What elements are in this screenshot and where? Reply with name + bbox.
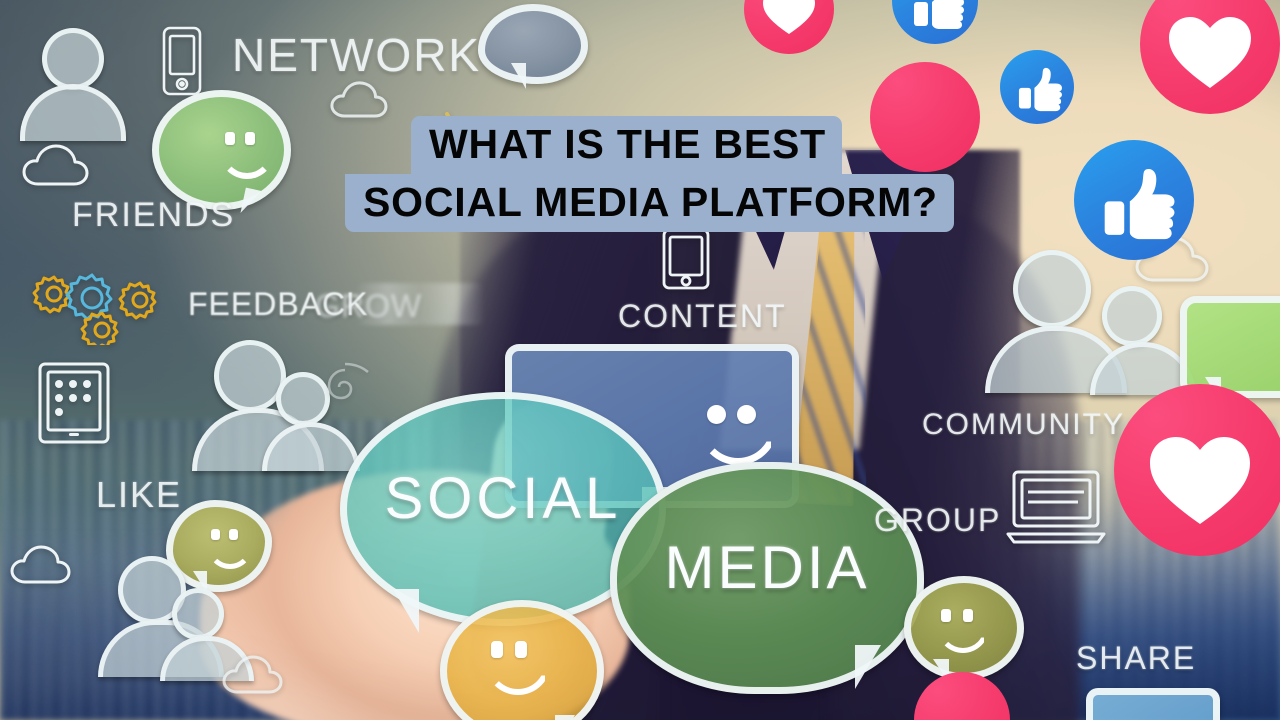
blue-square-bubble-bottom [1086,688,1220,720]
cloud-icon-top [330,76,404,120]
mobile-phone-icon [162,26,202,96]
chalk-word-friends: FRIENDS [72,196,235,235]
thumbs-up-reaction-icon-2 [1000,50,1074,124]
chalk-word-network: NETWORK [232,28,481,82]
media-bubble: MEDIA [610,462,924,694]
thumbs-up-reaction-icon-1 [892,0,978,44]
chalk-word-group: GROUP [874,502,1001,539]
heart-reaction-icon-1 [744,0,834,54]
green-square-bubble [1180,296,1280,398]
heart-reaction-icon-5 [914,672,1010,720]
media-bubble-label: MEDIA [617,533,917,602]
spiral-doodle-icon [312,360,378,414]
cloud-icon-bottomleft [10,540,90,588]
tablet-icon [38,362,110,444]
headline-banner: WHAT IS THE BEST SOCIAL MEDIA PLATFORM? [345,116,954,232]
grey-cloud-bubble [478,4,588,84]
gears-icon [30,265,180,345]
laptop-icon [1006,468,1106,544]
cloud-icon-bottom [222,650,300,696]
heart-reaction-icon-4 [1114,384,1280,556]
chalk-word-like: LIKE [96,474,182,516]
chalk-word-share: SHARE [1076,640,1196,677]
smartphone-icon-center [662,228,710,290]
olive-smiley-bubble-right [904,576,1024,680]
chalk-word-content: CONTENT [618,298,787,335]
headline-line-2: SOCIAL MEDIA PLATFORM? [345,174,954,232]
cloud-icon-topleft [22,140,110,190]
heart-reaction-icon-2 [1140,0,1280,114]
poster-canvas: NETWORK FRIENDS [0,0,1280,720]
social-bubble-label: SOCIAL [347,465,659,532]
headline-line-1: WHAT IS THE BEST [411,116,842,174]
chalk-word-community: COMMUNITY [922,408,1125,442]
thumbs-up-reaction-icon-3 [1074,140,1194,260]
user-avatar-icon [20,28,116,136]
green-smiley-bubble [152,90,291,210]
chalk-smudge [355,283,485,325]
